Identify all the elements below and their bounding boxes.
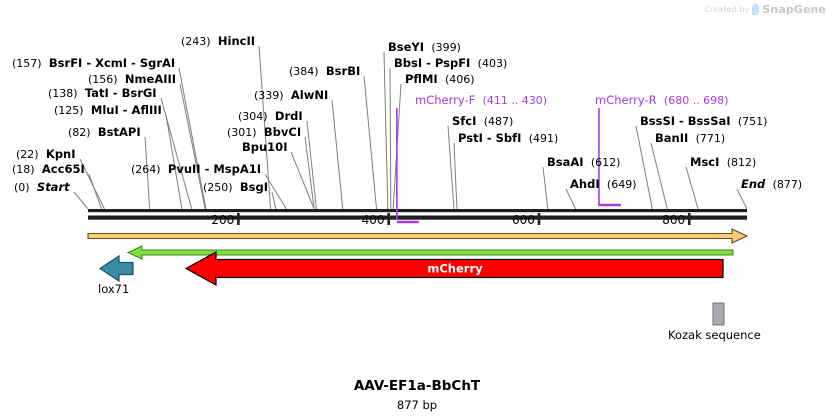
enzyme-position: (491) [529,132,559,145]
enzyme-lead-line [332,100,343,209]
enzyme-name: PflMI [405,72,438,86]
enzyme-lead-line [543,167,548,209]
enzyme-label[interactable]: MscI (812) [690,157,756,169]
enzyme-lead-line [686,167,698,209]
enzyme-lead-line [448,126,454,209]
enzyme-label[interactable]: PstI - SbfI (491) [458,133,558,145]
enzyme-name: NmeAIII [125,72,176,86]
enzyme-lead-line [636,126,652,209]
enzyme-name: BbsI - PspFI [394,56,470,70]
enzyme-label[interactable]: (156) NmeAIII [88,74,176,86]
green-arrow-left[interactable] [128,246,733,259]
enzyme-label[interactable]: (125) MluI - AflIII [54,105,162,117]
enzyme-label[interactable]: (138) TatI - BsrGI [48,88,157,100]
enzyme-position: (487) [484,115,514,128]
page-title: AAV-EF1a-BbChT [0,378,834,394]
enzyme-lead-line [74,192,88,209]
feature-track-orange[interactable] [88,229,747,243]
ruler-tick-label: 400 [345,214,385,226]
enzyme-lead-line [737,189,747,209]
enzyme-lead-line [272,192,276,209]
ruler-tick-label: 200 [194,214,234,226]
enzyme-name: End [741,177,765,191]
enzyme-lead-line [454,143,457,209]
feature-mcherry[interactable]: mCherry [0,0,723,285]
feature-kozak[interactable] [713,303,724,325]
enzyme-lead-line [180,84,205,209]
ruler-tick [387,213,390,225]
enzyme-position: (771) [696,132,726,145]
ruler-tick [538,213,541,225]
enzyme-position: (304) [238,110,268,123]
enzyme-lead-line [390,68,391,209]
enzyme-name: BssSI - BssSaI [640,114,731,128]
enzyme-label[interactable]: (339) AlwNI [254,90,328,102]
enzyme-lead-line [651,143,667,209]
primer-range: (411 .. 430) [483,94,548,107]
enzyme-position: (0) [14,181,30,194]
enzyme-name: HincII [218,34,255,48]
page-subtitle: 877 bp [0,398,834,412]
primer-label[interactable]: mCherry-F (411 .. 430) [415,95,547,107]
enzyme-name: PvuII - MspA1I [168,162,261,176]
enzyme-label[interactable]: (250) BsgI [203,182,268,194]
enzyme-name: AhdI [570,177,600,191]
enzyme-label[interactable]: (264) PvuII - MspA1I [131,164,261,176]
enzyme-lead-line [265,174,286,209]
enzyme-name: BstAPI [98,125,141,139]
enzyme-lead-line [364,76,377,209]
kozak-box[interactable] [713,303,724,325]
enzyme-position: (406) [445,73,475,86]
enzyme-name: Acc65I [42,162,85,176]
enzyme-position: (751) [738,115,768,128]
enzyme-position: (649) [607,178,637,191]
enzyme-lead-line [161,98,192,209]
enzyme-name: BsrFI - XcmI - SgrAI [49,56,175,70]
enzyme-position: (22) [16,148,39,161]
ruler-tick [237,213,240,225]
enzyme-name: BsrBI [326,64,360,78]
enzyme-label[interactable]: BseYI (399) [388,42,461,54]
enzyme-position: (384) [289,65,319,78]
enzyme-label[interactable]: BssSI - BssSaI (751) [640,116,767,128]
enzyme-name: DrdI [275,109,303,123]
enzyme-position: (812) [727,156,757,169]
enzyme-label[interactable]: SfcI (487) [452,116,513,128]
enzyme-name: BsaAI [547,155,584,169]
mcherry-arrow-label: mCherry [427,262,483,276]
primer-name: mCherry-R [595,93,657,107]
feature-track-green[interactable] [128,246,733,259]
enzyme-lead-line [384,52,388,209]
enzyme-lead-line [179,68,206,209]
ruler-tick-label: 800 [645,214,685,226]
enzyme-position: (243) [181,35,211,48]
enzyme-label[interactable]: BsaAI (612) [547,157,620,169]
enzyme-position: (250) [203,181,233,194]
enzyme-position: (138) [48,87,78,100]
enzyme-name: BsgI [240,180,268,194]
enzyme-position: (157) [12,57,42,70]
enzyme-label[interactable]: PflMI (406) [405,74,475,86]
enzyme-name: BanII [655,131,688,145]
enzyme-name: PstI - SbfI [458,131,521,145]
enzyme-label[interactable]: (157) BsrFI - XcmI - SgrAI [12,58,175,70]
lox71-arrow-left[interactable] [100,256,133,281]
enzyme-label[interactable]: (243) HincII [181,36,255,48]
enzyme-position: (339) [254,89,284,102]
enzyme-label[interactable]: (0) Start [14,182,70,194]
primer-name: mCherry-F [415,93,475,107]
enzyme-position: (264) [131,163,161,176]
primer-range: (680 .. 698) [664,94,729,107]
enzyme-label[interactable]: (82) BstAPI [68,127,141,139]
primer-label[interactable]: mCherry-R (680 .. 698) [595,95,728,107]
enzyme-name: BbvCI [264,125,301,139]
kozak-label: Kozak sequence [668,330,761,342]
enzyme-name: Bpu10I [242,140,287,154]
enzyme-lead-line [566,189,576,209]
enzyme-label[interactable]: Bpu10I [242,142,287,154]
enzyme-name: SfcI [452,114,476,128]
enzyme-name: KpnI [46,147,76,161]
enzyme-position: (877) [773,178,803,191]
enzyme-name: TatI - BsrGI [85,86,157,100]
enzyme-label[interactable]: (22) KpnI [16,149,76,161]
enzyme-name: Start [37,180,70,194]
enzyme-label[interactable]: (384) BsrBI [289,66,360,78]
enzyme-name: AlwNI [291,88,328,102]
ruler-tick [688,213,691,225]
enzyme-label[interactable]: (304) DrdI [238,111,303,123]
enzyme-label[interactable]: AhdI (649) [570,179,637,191]
enzyme-name: MscI [690,155,719,169]
enzyme-label[interactable]: BanII (771) [655,133,725,145]
lox71-label: lox71 [98,284,129,296]
enzyme-position: (125) [54,104,84,117]
enzyme-position: (612) [591,156,621,169]
enzyme-position: (156) [88,73,118,86]
orange-arrow-right[interactable] [88,229,747,243]
enzyme-position: (399) [431,41,461,54]
ruler-tick-label: 600 [495,214,535,226]
feature-lox71[interactable] [100,256,133,281]
enzyme-name: BseYI [388,40,424,54]
enzyme-position: (18) [12,163,35,176]
enzyme-label[interactable]: (18) Acc65I [12,164,85,176]
enzyme-label[interactable]: (301) BbvCI [227,127,301,139]
enzyme-name: MluI - AflIII [91,103,162,117]
enzyme-label[interactable]: BbsI - PspFI (403) [394,58,507,70]
enzyme-position: (403) [478,57,508,70]
enzyme-position: (82) [68,126,91,139]
enzyme-label[interactable]: End (877) [741,179,802,191]
enzyme-lead-line [89,174,102,209]
enzyme-position: (301) [227,126,257,139]
